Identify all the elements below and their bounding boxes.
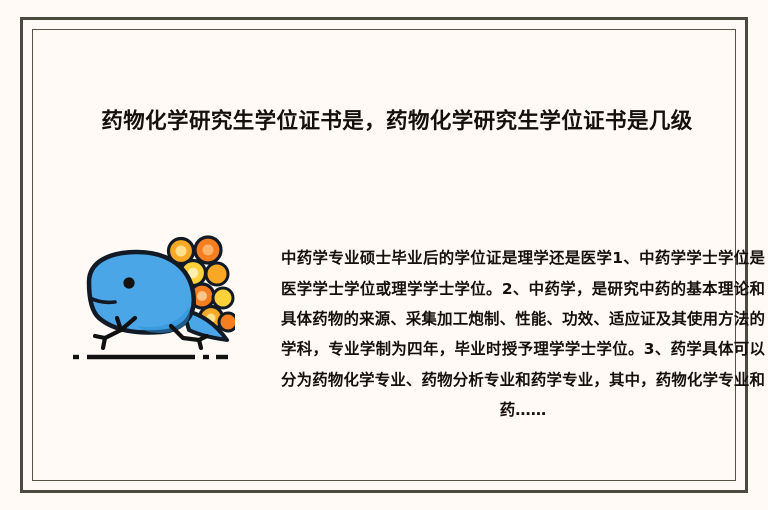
content-area: 药物化学研究生学位证书是，药物化学研究生学位证书是几级 (33, 30, 735, 480)
page-title: 药物化学研究生学位证书是，药物化学研究生学位证书是几级 (63, 106, 731, 137)
running-dinosaur-illustration (65, 226, 235, 371)
decorative-outer-frame: 药物化学研究生学位证书是，药物化学研究生学位证书是几级 (20, 17, 748, 493)
dinosaur-eye (123, 277, 134, 288)
decorative-inner-frame: 药物化学研究生学位证书是，药物化学研究生学位证书是几级 (32, 29, 736, 481)
article-body-text: 中药学专业硕士毕业后的学位证是理学还是医学1、中药学学士学位是医学学士学位或理学… (281, 243, 765, 425)
